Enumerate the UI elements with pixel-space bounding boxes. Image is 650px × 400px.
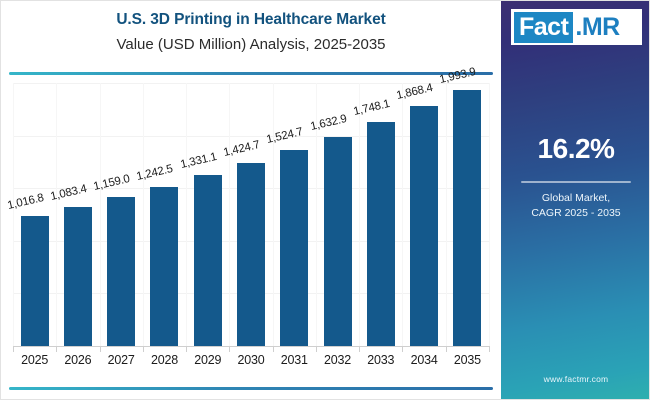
logo-fact-text: Fact [514,12,573,43]
x-axis-label: 2028 [143,353,186,367]
x-axis-tick [273,346,274,352]
x-axis-tick [316,346,317,352]
x-axis-tick [186,346,187,352]
chart-subtitle: Value (USD Million) Analysis, 2025-2035 [1,31,501,56]
x-axis-tick [13,346,14,352]
header-divider-top [9,72,493,75]
bar-value-label: 1,424.7 [222,139,261,159]
cagr-value: 16.2% [501,133,650,165]
x-axis-label: 2025 [13,353,56,367]
cagr-caption: Global Market, CAGR 2025 - 2035 [501,191,650,221]
bar-value-label: 1,524.7 [266,126,305,146]
x-axis-label: 2035 [446,353,489,367]
bar-value-label: 1,016.8 [6,192,45,212]
brand-panel: Fact .MR 16.2% Global Market, CAGR 2025 … [501,1,650,400]
chart-region: U.S. 3D Printing in Healthcare Market Va… [1,1,501,400]
cagr-caption-line2: CAGR 2025 - 2035 [501,206,650,221]
x-axis-label: 2032 [316,353,359,367]
chart-header: U.S. 3D Printing in Healthcare Market Va… [1,1,501,71]
x-axis-label: 2034 [402,353,445,367]
factmr-logo[interactable]: Fact .MR [511,9,642,45]
x-axis-line [13,346,489,347]
x-axis-tick [359,346,360,352]
x-axis-label: 2026 [56,353,99,367]
x-axis-label: 2030 [229,353,272,367]
infographic-root: U.S. 3D Printing in Healthcare Market Va… [0,0,650,400]
bar-value-label: 1,748.1 [352,98,391,118]
bar-value-label: 1,083.4 [49,183,88,203]
x-axis-tick [100,346,101,352]
x-axis-label: 2027 [100,353,143,367]
footer-url: www.factmr.com [501,374,650,384]
x-axis-tick [402,346,403,352]
x-axis-tick [56,346,57,352]
footer-divider-bottom [9,387,493,390]
bar-value-label: 1,159.0 [92,173,131,193]
bar-value-labels: 1,016.81,083.41,159.01,242.51,331.11,424… [13,83,489,346]
x-axis-label: 2033 [359,353,402,367]
x-axis-tick [229,346,230,352]
bar-value-label: 1,632.9 [309,112,348,132]
page-title: U.S. 3D Printing in Healthcare Market [1,1,501,31]
cagr-caption-line1: Global Market, [501,191,650,206]
x-axis-label: 2031 [273,353,316,367]
bar-value-label: 1,331.1 [179,151,218,171]
x-axis-tick [143,346,144,352]
x-axis-label: 2029 [186,353,229,367]
bar-value-label: 1,242.5 [136,163,175,183]
cagr-divider [521,181,631,183]
category-gridline [489,83,490,346]
x-axis-tick [489,346,490,352]
logo-mr-text: .MR [573,13,619,41]
x-axis-tick [446,346,447,352]
bar-value-label: 1,868.4 [395,82,434,102]
